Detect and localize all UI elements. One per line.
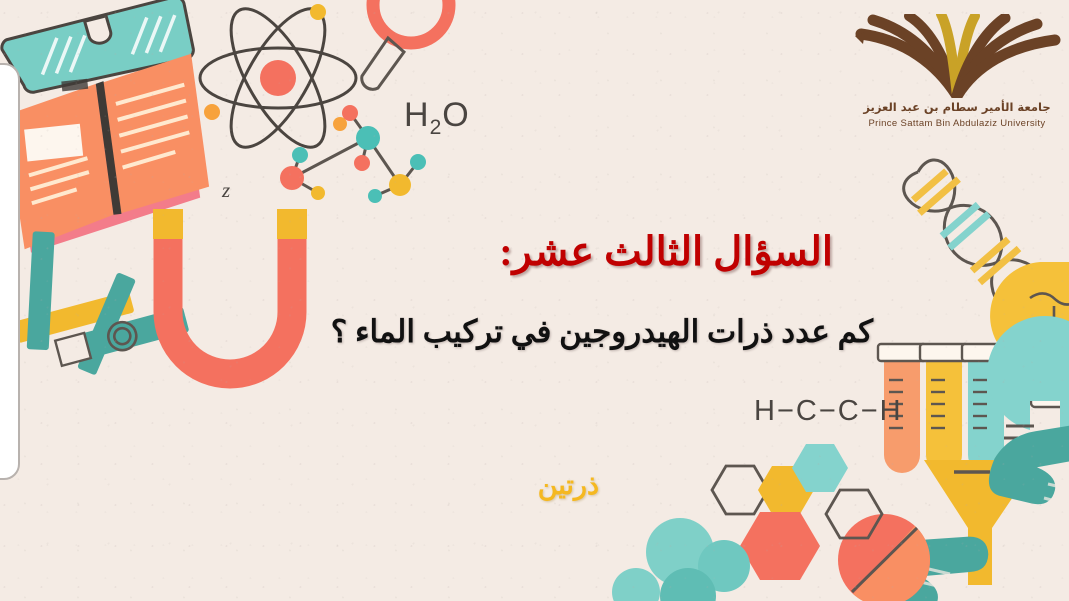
question-title: السؤال الثالث عشر: [499, 228, 833, 275]
university-logo: جامعة الأمير سطام بن عبد العزيز Prince S… [853, 14, 1061, 138]
teal-cluster-icon [612, 518, 750, 601]
test-tube-yellow-icon [920, 344, 968, 473]
slide-frame-left-edge [0, 63, 20, 480]
logo-book-mark [853, 14, 1061, 98]
logo-name-english: Prince Sattam Bin Abdulaziz University [853, 118, 1061, 129]
answer-text: ذرتين [538, 470, 599, 501]
question-text: كم عدد ذرات الهيدروجين في تركيب الماء ؟ [331, 314, 873, 350]
h2o-2: 2 [430, 116, 443, 139]
h2o-o: O [442, 96, 469, 134]
magnet-icon [153, 209, 307, 374]
z-label: z [222, 178, 230, 203]
slide-canvas: H2O H−C−C−H z جامعة الأمير سطام بن عبد ا… [0, 0, 1069, 601]
h2o-label: H2O [404, 96, 470, 140]
atom-icon [200, 0, 356, 161]
magnifier-icon [362, 0, 449, 89]
logo-name-arabic: جامعة الأمير سطام بن عبد العزيز [853, 100, 1061, 114]
hcch-label: H−C−C−H [754, 395, 903, 428]
h2o-h: H [404, 96, 430, 134]
